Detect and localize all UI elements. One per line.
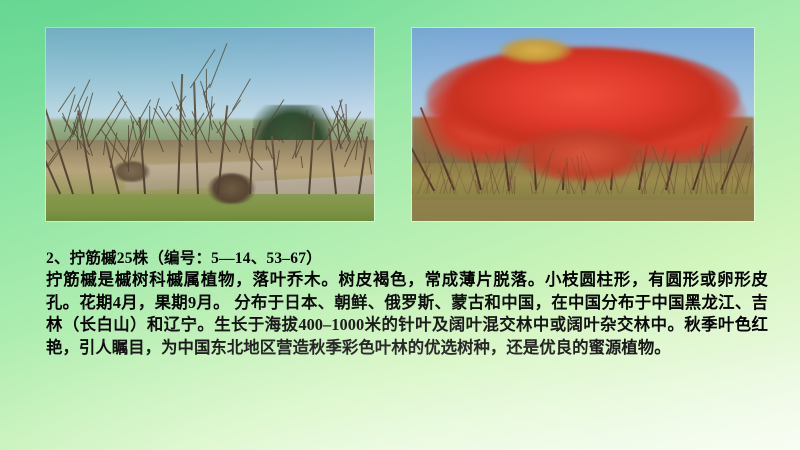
photo-spring-maple-grove (46, 28, 374, 221)
scrub-stem (509, 158, 510, 194)
shrub-background (112, 161, 151, 182)
tree-twig (149, 106, 150, 138)
slide-text-block: 2、拧筋槭25株（编号：5—14、53–67） 拧筋槭是槭树科槭属植物，落叶乔木… (46, 248, 768, 359)
canopy-golden-top (498, 38, 573, 63)
presentation-slide: 2、拧筋槭25株（编号：5—14、53–67） 拧筋槭是槭树科槭属植物，落叶乔木… (0, 0, 800, 450)
photo-autumn-red-maple (412, 28, 754, 221)
slide-body-paragraph: 拧筋槭是槭树科槭属植物，落叶乔木。树皮褐色，常成薄片脱落。小枝圆柱形，有圆形或卵… (46, 269, 768, 359)
slide-heading: 2、拧筋槭25株（编号：5—14、53–67） (46, 248, 768, 269)
foreground-grass-strip (412, 200, 754, 221)
